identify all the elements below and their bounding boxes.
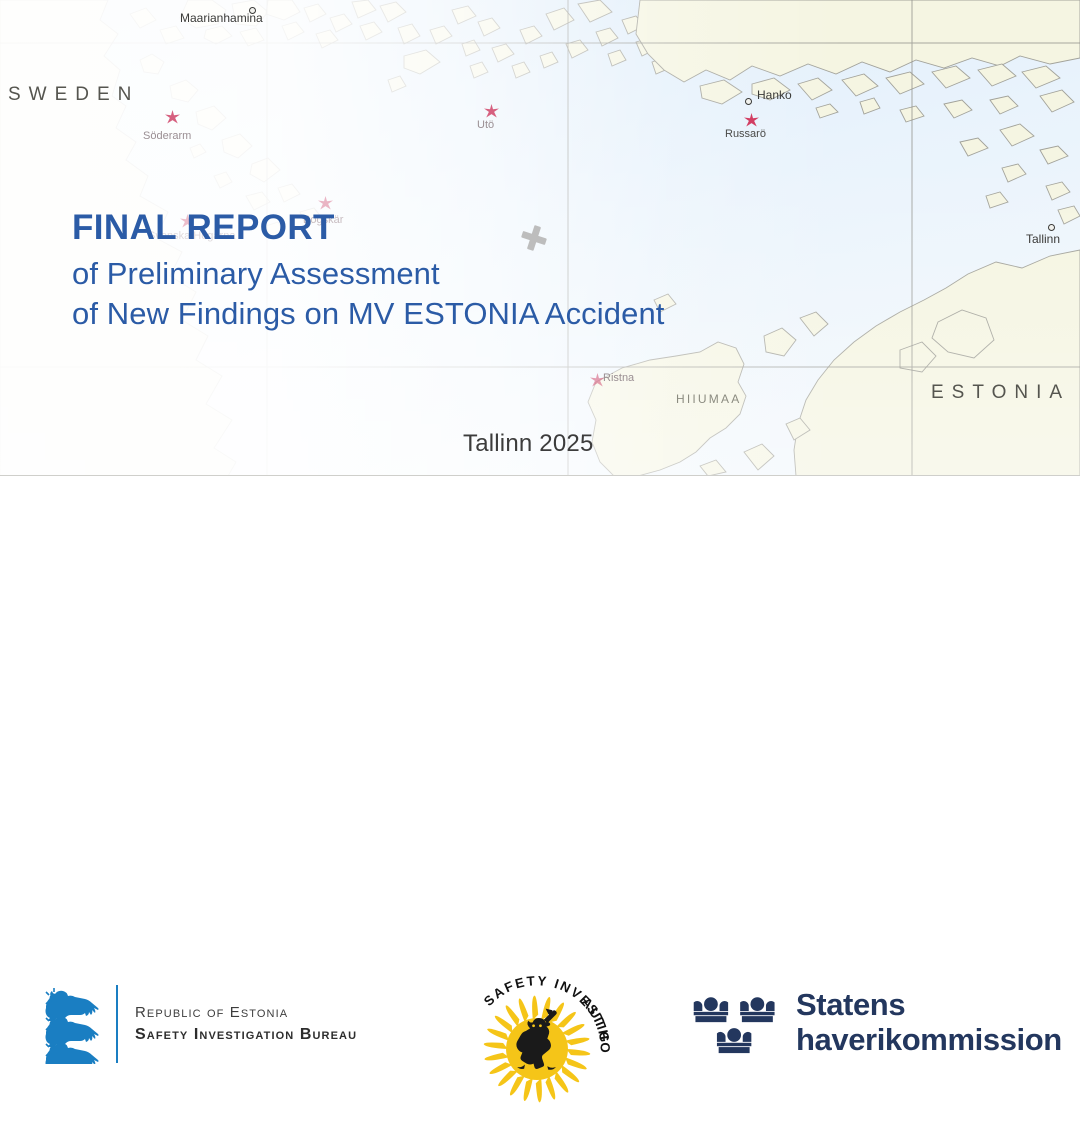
map-banner: SWEDEN ESTONIA HIIUMAA Maarianhamina Han… <box>0 0 1080 476</box>
title-block: FINAL REPORT of Preliminary Assessment o… <box>72 207 665 334</box>
estonia-logo-text: Republic of Estonia Safety Investigation… <box>135 1002 357 1047</box>
finland-sia-seal-icon: SAFETY INVESTIGATION AUTHORITY <box>451 963 623 1135</box>
logo-divider-rule <box>116 985 118 1063</box>
sweden-logo-line-1: Statens <box>796 988 1062 1023</box>
city-dot-maarianhamina <box>249 7 256 14</box>
logo-finland-safety-investigation-authority: SAFETY INVESTIGATION AUTHORITY <box>451 963 623 1135</box>
subtitle-line-2: of New Findings on MV ESTONIA Accident <box>72 294 665 334</box>
city-dot-tallinn <box>1048 224 1055 231</box>
sweden-logo-text: Statens haverikommission <box>796 988 1062 1057</box>
logo-bar: Republic of Estonia Safety Investigation… <box>0 476 1080 600</box>
city-dot-hanko <box>745 98 752 105</box>
sweden-logo-line-2: haverikommission <box>796 1023 1062 1058</box>
estonia-logo-line-1: Republic of Estonia <box>135 1002 357 1024</box>
three-crowns-icon <box>692 992 778 1054</box>
logo-estonia-safety-investigation-bureau: Republic of Estonia Safety Investigation… <box>42 984 357 1064</box>
estonia-logo-line-2: Safety Investigation Bureau <box>135 1023 357 1046</box>
subtitle-line-1: of Preliminary Assessment <box>72 254 665 294</box>
estonian-coat-of-arms-icon <box>42 984 100 1064</box>
report-cover: SWEDEN ESTONIA HIIUMAA Maarianhamina Han… <box>0 0 1080 600</box>
page-title: FINAL REPORT <box>72 207 665 248</box>
place-and-year: Tallinn 2025 <box>463 430 594 458</box>
logo-sweden-statens-haverikommission: Statens haverikommission <box>692 988 1062 1057</box>
